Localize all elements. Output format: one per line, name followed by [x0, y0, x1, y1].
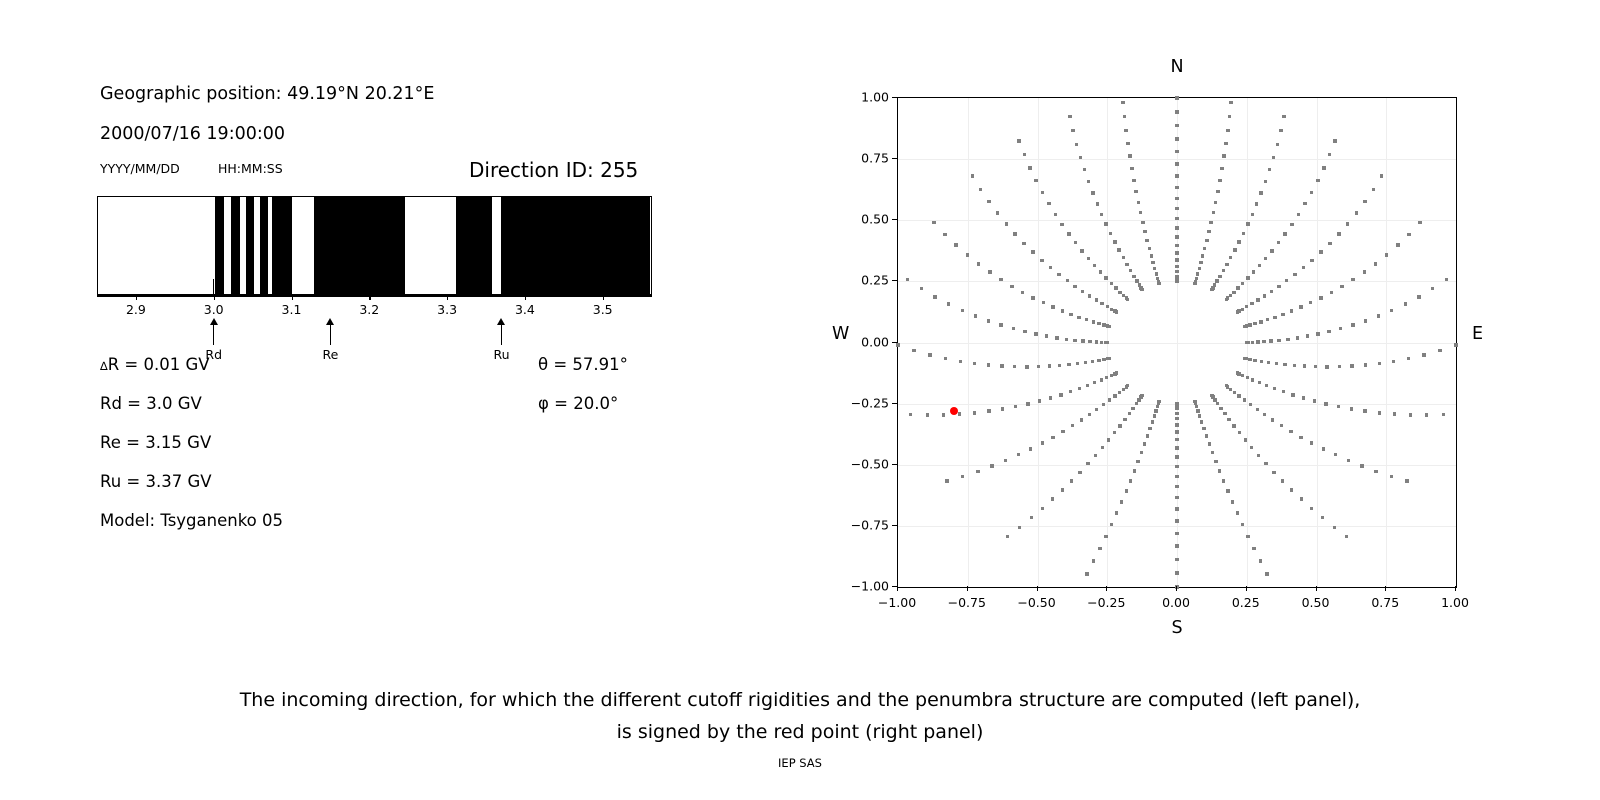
direction-dot: [1214, 201, 1217, 204]
direction-dot: [1087, 180, 1090, 183]
direction-dot: [1256, 408, 1259, 411]
direction-dot: [1275, 362, 1278, 365]
direction-dot: [1264, 462, 1267, 465]
direction-dot: [1363, 200, 1366, 203]
direction-dot: [1247, 341, 1250, 344]
direction-dot: [1214, 460, 1217, 463]
direction-dot: [1252, 270, 1255, 273]
direction-dot: [1175, 150, 1178, 153]
direction-dot: [1110, 282, 1113, 285]
direction-dot: [1045, 334, 1048, 337]
direction-dot: [1110, 523, 1113, 526]
direction-dot: [1156, 277, 1159, 280]
direction-dot: [1405, 479, 1408, 482]
direction-dot: [1093, 381, 1096, 384]
marker-label-re: Re: [322, 347, 338, 362]
direction-dot: [1207, 230, 1210, 233]
direction-dot: [1047, 202, 1050, 205]
direction-dot: [1248, 358, 1251, 361]
y-axis-tick: [892, 219, 897, 220]
direction-dot: [1057, 273, 1060, 276]
direction-dot: [1018, 526, 1021, 529]
compass-south: S: [1171, 618, 1182, 638]
direction-dot: [1175, 124, 1178, 127]
direction-dot: [1175, 244, 1178, 247]
direction-dot: [1263, 413, 1266, 416]
direction-dot: [1031, 250, 1034, 253]
direction-dot: [1061, 488, 1064, 491]
direction-dot: [1088, 294, 1091, 297]
x-axis-tick: [1106, 586, 1107, 591]
direction-dot: [1175, 465, 1178, 468]
direction-dot: [1218, 469, 1221, 472]
direction-dot: [1337, 232, 1340, 235]
axis-tick: [136, 295, 137, 300]
direction-dot: [1300, 497, 1303, 500]
direction-dot: [1106, 324, 1109, 327]
direction-dot: [1094, 454, 1097, 457]
direction-dot: [1093, 264, 1096, 267]
direction-dot: [1138, 283, 1141, 286]
direction-dot: [942, 413, 945, 416]
direction-dot: [1153, 414, 1156, 417]
forbidden-band: [231, 197, 240, 294]
direction-dot: [988, 270, 991, 273]
direction-dot: [1228, 115, 1231, 118]
direction-dot: [958, 412, 961, 415]
direction-dot: [1233, 391, 1236, 394]
direction-dot: [1213, 283, 1216, 286]
direction-dot: [1223, 412, 1226, 415]
direction-dot: [1041, 507, 1044, 510]
direction-dot: [1175, 270, 1178, 273]
direction-dot: [1224, 142, 1227, 145]
direction-dot: [1350, 407, 1353, 410]
direction-dot: [1216, 402, 1219, 405]
direction-dot: [1113, 431, 1116, 434]
direction-dot: [1129, 269, 1132, 272]
direction-dot: [1229, 294, 1232, 297]
direction-dot: [1113, 372, 1116, 375]
direction-dot: [1148, 427, 1151, 430]
direction-dot: [1246, 222, 1249, 225]
direction-dot: [1231, 500, 1234, 503]
direction-dot: [1017, 453, 1020, 456]
direction-dot: [1219, 407, 1222, 410]
direction-dot: [1175, 226, 1178, 229]
direction-dot: [947, 302, 950, 305]
direction-dot: [1226, 129, 1229, 132]
direction-dot: [1310, 507, 1313, 510]
y-axis-tick: [892, 280, 897, 281]
direction-dot: [932, 221, 935, 224]
direction-dot: [1131, 407, 1134, 410]
direction-dot: [1069, 390, 1072, 393]
direction-dot: [1196, 272, 1199, 275]
compass-east: E: [1472, 324, 1483, 344]
direction-dot: [1110, 308, 1113, 311]
direction-dot: [1250, 302, 1253, 305]
direction-dot: [1077, 316, 1080, 319]
direction-dot: [1334, 453, 1337, 456]
direction-dot: [999, 323, 1002, 326]
direction-dot: [1299, 305, 1302, 308]
direction-dot: [1079, 156, 1082, 159]
time-format-hint: HH:MM:SS: [218, 161, 283, 176]
direction-dot: [1196, 409, 1199, 412]
direction-dot: [1233, 248, 1236, 251]
direction-dot: [1350, 364, 1353, 367]
direction-id-label: Direction ID: 255: [469, 158, 638, 182]
direction-dot: [1227, 418, 1230, 421]
axis-tick-label: 3.3: [437, 302, 457, 317]
axis-tick: [525, 295, 526, 300]
direction-dot: [1134, 190, 1137, 193]
direction-dot: [896, 343, 899, 346]
direction-dot: [1071, 424, 1074, 427]
direction-dot: [1253, 359, 1256, 362]
direction-dot: [1175, 251, 1178, 254]
direction-dot: [1109, 232, 1112, 235]
direction-dot: [1013, 232, 1016, 235]
direction-dot: [1049, 396, 1052, 399]
direction-dot: [1316, 179, 1319, 182]
direction-dot: [1054, 213, 1057, 216]
direction-dot: [1154, 409, 1157, 412]
direction-dot: [1006, 535, 1009, 538]
direction-dot: [1104, 222, 1107, 225]
param-re: Re = 3.15 GV: [100, 433, 211, 452]
direction-dot: [1333, 139, 1336, 142]
direction-dot: [1118, 424, 1121, 427]
direction-dot: [1418, 221, 1421, 224]
direction-dot: [1126, 142, 1129, 145]
direction-dot: [1251, 213, 1254, 216]
direction-dot: [1099, 270, 1102, 273]
direction-dot: [1128, 154, 1131, 157]
direction-dot: [1125, 489, 1128, 492]
x-axis-tick-label: 0.25: [1232, 595, 1260, 610]
direction-dot: [1104, 341, 1107, 344]
direction-dot: [1086, 462, 1089, 465]
marker-arrow-re: [330, 323, 332, 345]
direction-dot: [1250, 446, 1253, 449]
geographic-position: Geographic position: 49.19°N 20.21°E: [100, 84, 435, 104]
direction-dot: [1083, 168, 1086, 171]
x-axis-tick: [1037, 586, 1038, 591]
sky-map-plot-frame: [897, 97, 1457, 588]
direction-dot: [926, 413, 929, 416]
direction-dot: [1281, 313, 1284, 316]
direction-dot: [1243, 398, 1246, 401]
direction-dot: [1241, 374, 1244, 377]
direction-dot: [1360, 464, 1363, 467]
direction-dot: [1241, 308, 1244, 311]
direction-dot: [1038, 399, 1041, 402]
direction-dot: [1280, 424, 1283, 427]
direction-dot: [1085, 318, 1088, 321]
direction-dot: [1270, 290, 1273, 293]
direction-dot: [1088, 413, 1091, 416]
direction-dot: [1145, 239, 1148, 242]
direction-dot: [943, 233, 946, 236]
x-axis-tick: [967, 586, 968, 591]
direction-dot: [1150, 254, 1153, 257]
direction-dot: [1205, 239, 1208, 242]
direction-dot: [1290, 488, 1293, 491]
x-axis-tick: [1246, 586, 1247, 591]
direction-dot: [1396, 243, 1399, 246]
direction-dot: [1026, 402, 1029, 405]
direction-dot: [1113, 240, 1116, 243]
direction-dot: [1319, 296, 1322, 299]
direction-dot: [1081, 290, 1084, 293]
y-axis-tick-label: 1.00: [839, 90, 889, 105]
direction-dot: [1017, 139, 1020, 142]
axis-tick-label: 2.9: [126, 302, 146, 317]
direction-dot: [1438, 349, 1441, 352]
forbidden-band: [215, 197, 224, 294]
direction-dot: [1136, 460, 1139, 463]
direction-dot: [1081, 339, 1084, 342]
direction-dot: [1040, 259, 1043, 262]
x-axis-tick: [1385, 586, 1386, 591]
direction-dot: [1071, 129, 1074, 132]
forbidden-band: [246, 197, 254, 294]
direction-dot: [1208, 442, 1211, 445]
direction-dot: [1303, 364, 1306, 367]
direction-dot: [1091, 360, 1094, 363]
direction-dot: [971, 174, 974, 177]
direction-dot: [1325, 365, 1328, 368]
direction-dot: [1102, 358, 1105, 361]
direction-dot: [1253, 322, 1256, 325]
y-axis-tick: [892, 342, 897, 343]
axis-tick: [603, 295, 604, 300]
direction-dot: [1157, 280, 1160, 283]
direction-dot: [999, 278, 1002, 281]
direction-dot: [1322, 166, 1325, 169]
direction-dot: [1175, 485, 1178, 488]
direction-dot: [1222, 154, 1225, 157]
direction-dot: [961, 475, 964, 478]
direction-dot: [1092, 320, 1095, 323]
direction-dot: [1146, 434, 1149, 437]
direction-dot: [1086, 384, 1089, 387]
direction-dot: [1297, 213, 1300, 216]
param-phi: φ = 20.0°: [538, 394, 618, 413]
direction-dot: [1264, 180, 1267, 183]
figure-footer: IEP SAS: [0, 756, 1600, 770]
compass-north: N: [1170, 57, 1183, 77]
direction-dot: [1291, 393, 1294, 396]
direction-dot: [1202, 427, 1205, 430]
direction-dot: [1107, 438, 1110, 441]
direction-dot: [1251, 341, 1254, 344]
direction-dot: [966, 253, 969, 256]
direction-dot: [1245, 305, 1248, 308]
direction-dot: [1067, 363, 1070, 366]
direction-dot: [1337, 405, 1340, 408]
direction-dot: [1241, 282, 1244, 285]
direction-dot: [1100, 341, 1103, 344]
direction-dot: [1068, 115, 1071, 118]
direction-dot: [1059, 393, 1062, 396]
direction-dot: [1135, 279, 1138, 282]
direction-dot: [1175, 438, 1178, 441]
direction-dot: [1393, 412, 1396, 415]
direction-dot: [1407, 357, 1410, 360]
direction-dot: [1110, 374, 1113, 377]
direction-dot: [1364, 363, 1367, 366]
direction-dot: [1105, 376, 1108, 379]
direction-dot: [1067, 232, 1070, 235]
direction-dot: [1314, 365, 1317, 368]
direction-dot: [1309, 301, 1312, 304]
direction-dot: [1417, 295, 1420, 298]
direction-dot: [1175, 207, 1178, 210]
direction-dot: [1143, 442, 1146, 445]
direction-dot: [1175, 186, 1178, 189]
direction-dot: [1095, 298, 1098, 301]
direction-dot: [1205, 434, 1208, 437]
direction-dot: [1051, 436, 1054, 439]
delta-symbol: ∆: [100, 359, 108, 373]
direction-dot: [1122, 294, 1125, 297]
direction-dot: [1175, 571, 1178, 574]
direction-dot: [1281, 479, 1284, 482]
direction-dot: [1108, 398, 1111, 401]
direction-dot: [1249, 403, 1252, 406]
direction-dot: [1246, 276, 1249, 279]
marker-arrow-ru: [501, 323, 503, 345]
direction-dot: [1104, 276, 1107, 279]
penumbra-spectrum-bar: [97, 196, 652, 295]
y-axis-tick-label: −0.50: [839, 456, 889, 471]
direction-dot-layer: [898, 98, 1456, 587]
direction-dot: [1175, 235, 1178, 238]
axis-tick: [214, 295, 215, 300]
direction-dot: [1351, 278, 1354, 281]
direction-dot: [1049, 266, 1052, 269]
axis-tick: [292, 295, 293, 300]
direction-dot: [1211, 451, 1214, 454]
direction-dot: [1273, 387, 1276, 390]
direction-dot: [1074, 241, 1077, 244]
direction-dot: [1135, 402, 1138, 405]
direction-dot: [1260, 360, 1263, 363]
direction-dot: [1092, 559, 1095, 562]
direction-dot: [1175, 507, 1178, 510]
direction-dot: [1029, 447, 1032, 450]
direction-dot: [1378, 362, 1381, 365]
direction-dot: [1322, 447, 1325, 450]
direction-dot: [1114, 286, 1117, 289]
direction-dot: [974, 314, 977, 317]
direction-dot: [1272, 471, 1275, 474]
observation-datetime: 2000/07/16 19:00:00: [100, 124, 285, 144]
direction-dot: [1085, 572, 1088, 575]
x-axis-tick-label: −1.00: [878, 595, 916, 610]
direction-dot: [1265, 572, 1268, 575]
direction-dot: [945, 479, 948, 482]
direction-dot: [1175, 496, 1178, 499]
direction-dot: [1012, 327, 1015, 330]
y-axis-tick: [892, 158, 897, 159]
direction-dot: [1130, 167, 1133, 170]
direction-dot: [1048, 364, 1051, 367]
direction-dot: [1155, 272, 1158, 275]
direction-dot: [1113, 394, 1116, 397]
direction-dot: [1333, 526, 1336, 529]
direction-dot: [1088, 340, 1091, 343]
direction-dot: [1025, 365, 1028, 368]
y-axis-tick: [892, 525, 897, 526]
direction-dot: [1122, 388, 1125, 391]
direction-dot: [1123, 115, 1126, 118]
direction-dot: [1175, 558, 1178, 561]
direction-dot: [1310, 259, 1313, 262]
direction-dot: [1290, 223, 1293, 226]
direction-dot: [1293, 364, 1296, 367]
marker-arrowhead-re: [326, 318, 334, 325]
direction-dot: [1267, 361, 1270, 364]
date-format-hint: YYYY/MM/DD: [100, 161, 180, 176]
marker-arrow-rd-upper: [213, 279, 215, 295]
direction-dot: [1355, 211, 1358, 214]
direction-dot: [1255, 202, 1258, 205]
direction-dot: [1232, 291, 1235, 294]
direction-dot: [1058, 364, 1061, 367]
x-axis-tick-label: −0.50: [1017, 595, 1055, 610]
direction-dot: [1113, 309, 1116, 312]
direction-dot: [1258, 264, 1261, 267]
direction-dot: [1175, 423, 1178, 426]
direction-dot: [1100, 302, 1103, 305]
y-axis-tick-label: −0.75: [839, 517, 889, 532]
direction-dot: [1075, 143, 1078, 146]
x-axis-tick: [1455, 586, 1456, 591]
direction-dot: [1262, 340, 1265, 343]
penumbra-panel: Geographic position: 49.19°N 20.21°E 200…: [0, 0, 700, 620]
direction-dot: [1000, 364, 1003, 367]
direction-dot: [1310, 191, 1313, 194]
direction-dot: [1409, 413, 1412, 416]
direction-dot: [1004, 459, 1007, 462]
y-axis-tick-label: 0.25: [839, 273, 889, 288]
param-ru: Ru = 3.37 GV: [100, 472, 212, 491]
direction-dot: [1034, 179, 1037, 182]
direction-dot: [1268, 168, 1271, 171]
direction-dot: [1175, 519, 1178, 522]
direction-dot: [1378, 411, 1381, 414]
direction-dot: [1010, 285, 1013, 288]
x-axis-tick: [897, 586, 898, 591]
direction-dot: [1106, 357, 1109, 360]
direction-dot: [1222, 269, 1225, 272]
direction-dot: [1237, 394, 1240, 397]
direction-dot: [1101, 446, 1104, 449]
direction-dot: [1102, 323, 1105, 326]
figure-caption: The incoming direction, for which the di…: [0, 684, 1600, 748]
direction-dot: [1272, 156, 1275, 159]
direction-dot: [1023, 330, 1026, 333]
direction-dot: [1175, 475, 1178, 478]
direction-dot: [1128, 412, 1131, 415]
direction-dot: [1425, 413, 1428, 416]
direction-dot: [1106, 305, 1109, 308]
direction-dot: [1321, 516, 1324, 519]
